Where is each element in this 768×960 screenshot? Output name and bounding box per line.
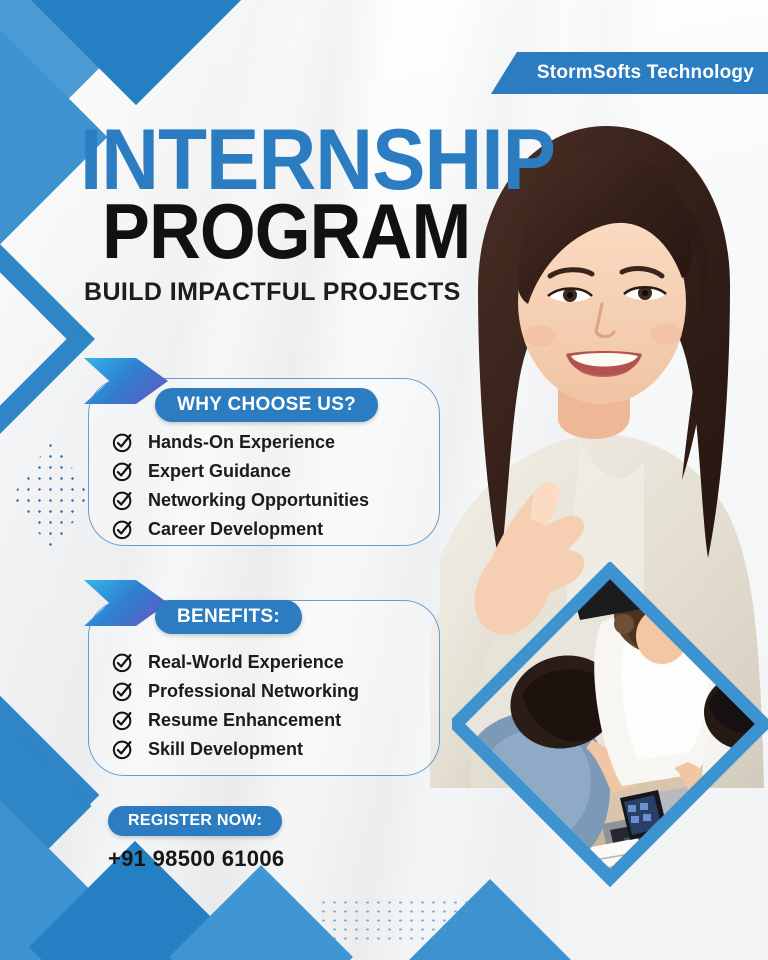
check-circle-icon: [112, 489, 134, 511]
title-subtitle: BUILD IMPACTFUL PROJECTS: [84, 278, 550, 307]
list-item-label: Real-World Experience: [148, 652, 344, 673]
decorative-dot-grid-diamond: [12, 440, 92, 552]
check-circle-icon: [112, 738, 134, 760]
page-title: INTERNSHIP PROGRAM BUILD IMPACTFUL PROJE…: [80, 124, 550, 307]
list-item: Resume Enhancement: [112, 706, 359, 734]
brand-name: StormSofts Technology: [537, 62, 754, 84]
title-line-internship: INTERNSHIP: [80, 124, 517, 196]
list-item-label: Resume Enhancement: [148, 710, 341, 731]
badge-why-choose-us: WHY CHOOSE US?: [155, 388, 378, 422]
check-circle-icon: [112, 651, 134, 673]
list-benefits: Real-World Experience Professional Netwo…: [112, 648, 359, 764]
list-item-label: Skill Development: [148, 739, 303, 760]
badge-register-now[interactable]: REGISTER NOW:: [108, 806, 282, 836]
check-circle-icon: [112, 431, 134, 453]
list-item: Expert Guidance: [112, 457, 369, 485]
team-photo: [452, 562, 768, 912]
list-item-label: Networking Opportunities: [148, 490, 369, 511]
brand-ribbon: StormSofts Technology: [491, 52, 768, 94]
badge-benefits: BENEFITS:: [155, 600, 302, 634]
list-item: Hands-On Experience: [112, 428, 369, 456]
contact-phone-number[interactable]: +91 98500 61006: [108, 846, 284, 872]
list-item-label: Expert Guidance: [148, 461, 291, 482]
check-circle-icon: [112, 518, 134, 540]
poster-canvas: StormSofts Technology INTERNSHIP PROGRAM…: [0, 0, 768, 960]
list-item: Professional Networking: [112, 677, 359, 705]
list-item-label: Hands-On Experience: [148, 432, 335, 453]
check-circle-icon: [112, 709, 134, 731]
check-circle-icon: [112, 680, 134, 702]
list-item: Real-World Experience: [112, 648, 359, 676]
list-why-choose-us: Hands-On Experience Expert Guidance Netw…: [112, 428, 369, 544]
check-circle-icon: [112, 460, 134, 482]
list-item: Skill Development: [112, 735, 359, 763]
list-item-label: Career Development: [148, 519, 323, 540]
list-item: Career Development: [112, 515, 369, 543]
list-item-label: Professional Networking: [148, 681, 359, 702]
list-item: Networking Opportunities: [112, 486, 369, 514]
decorative-dot-grid-rectangle: [318, 898, 468, 946]
title-line-program: PROGRAM: [102, 196, 514, 266]
